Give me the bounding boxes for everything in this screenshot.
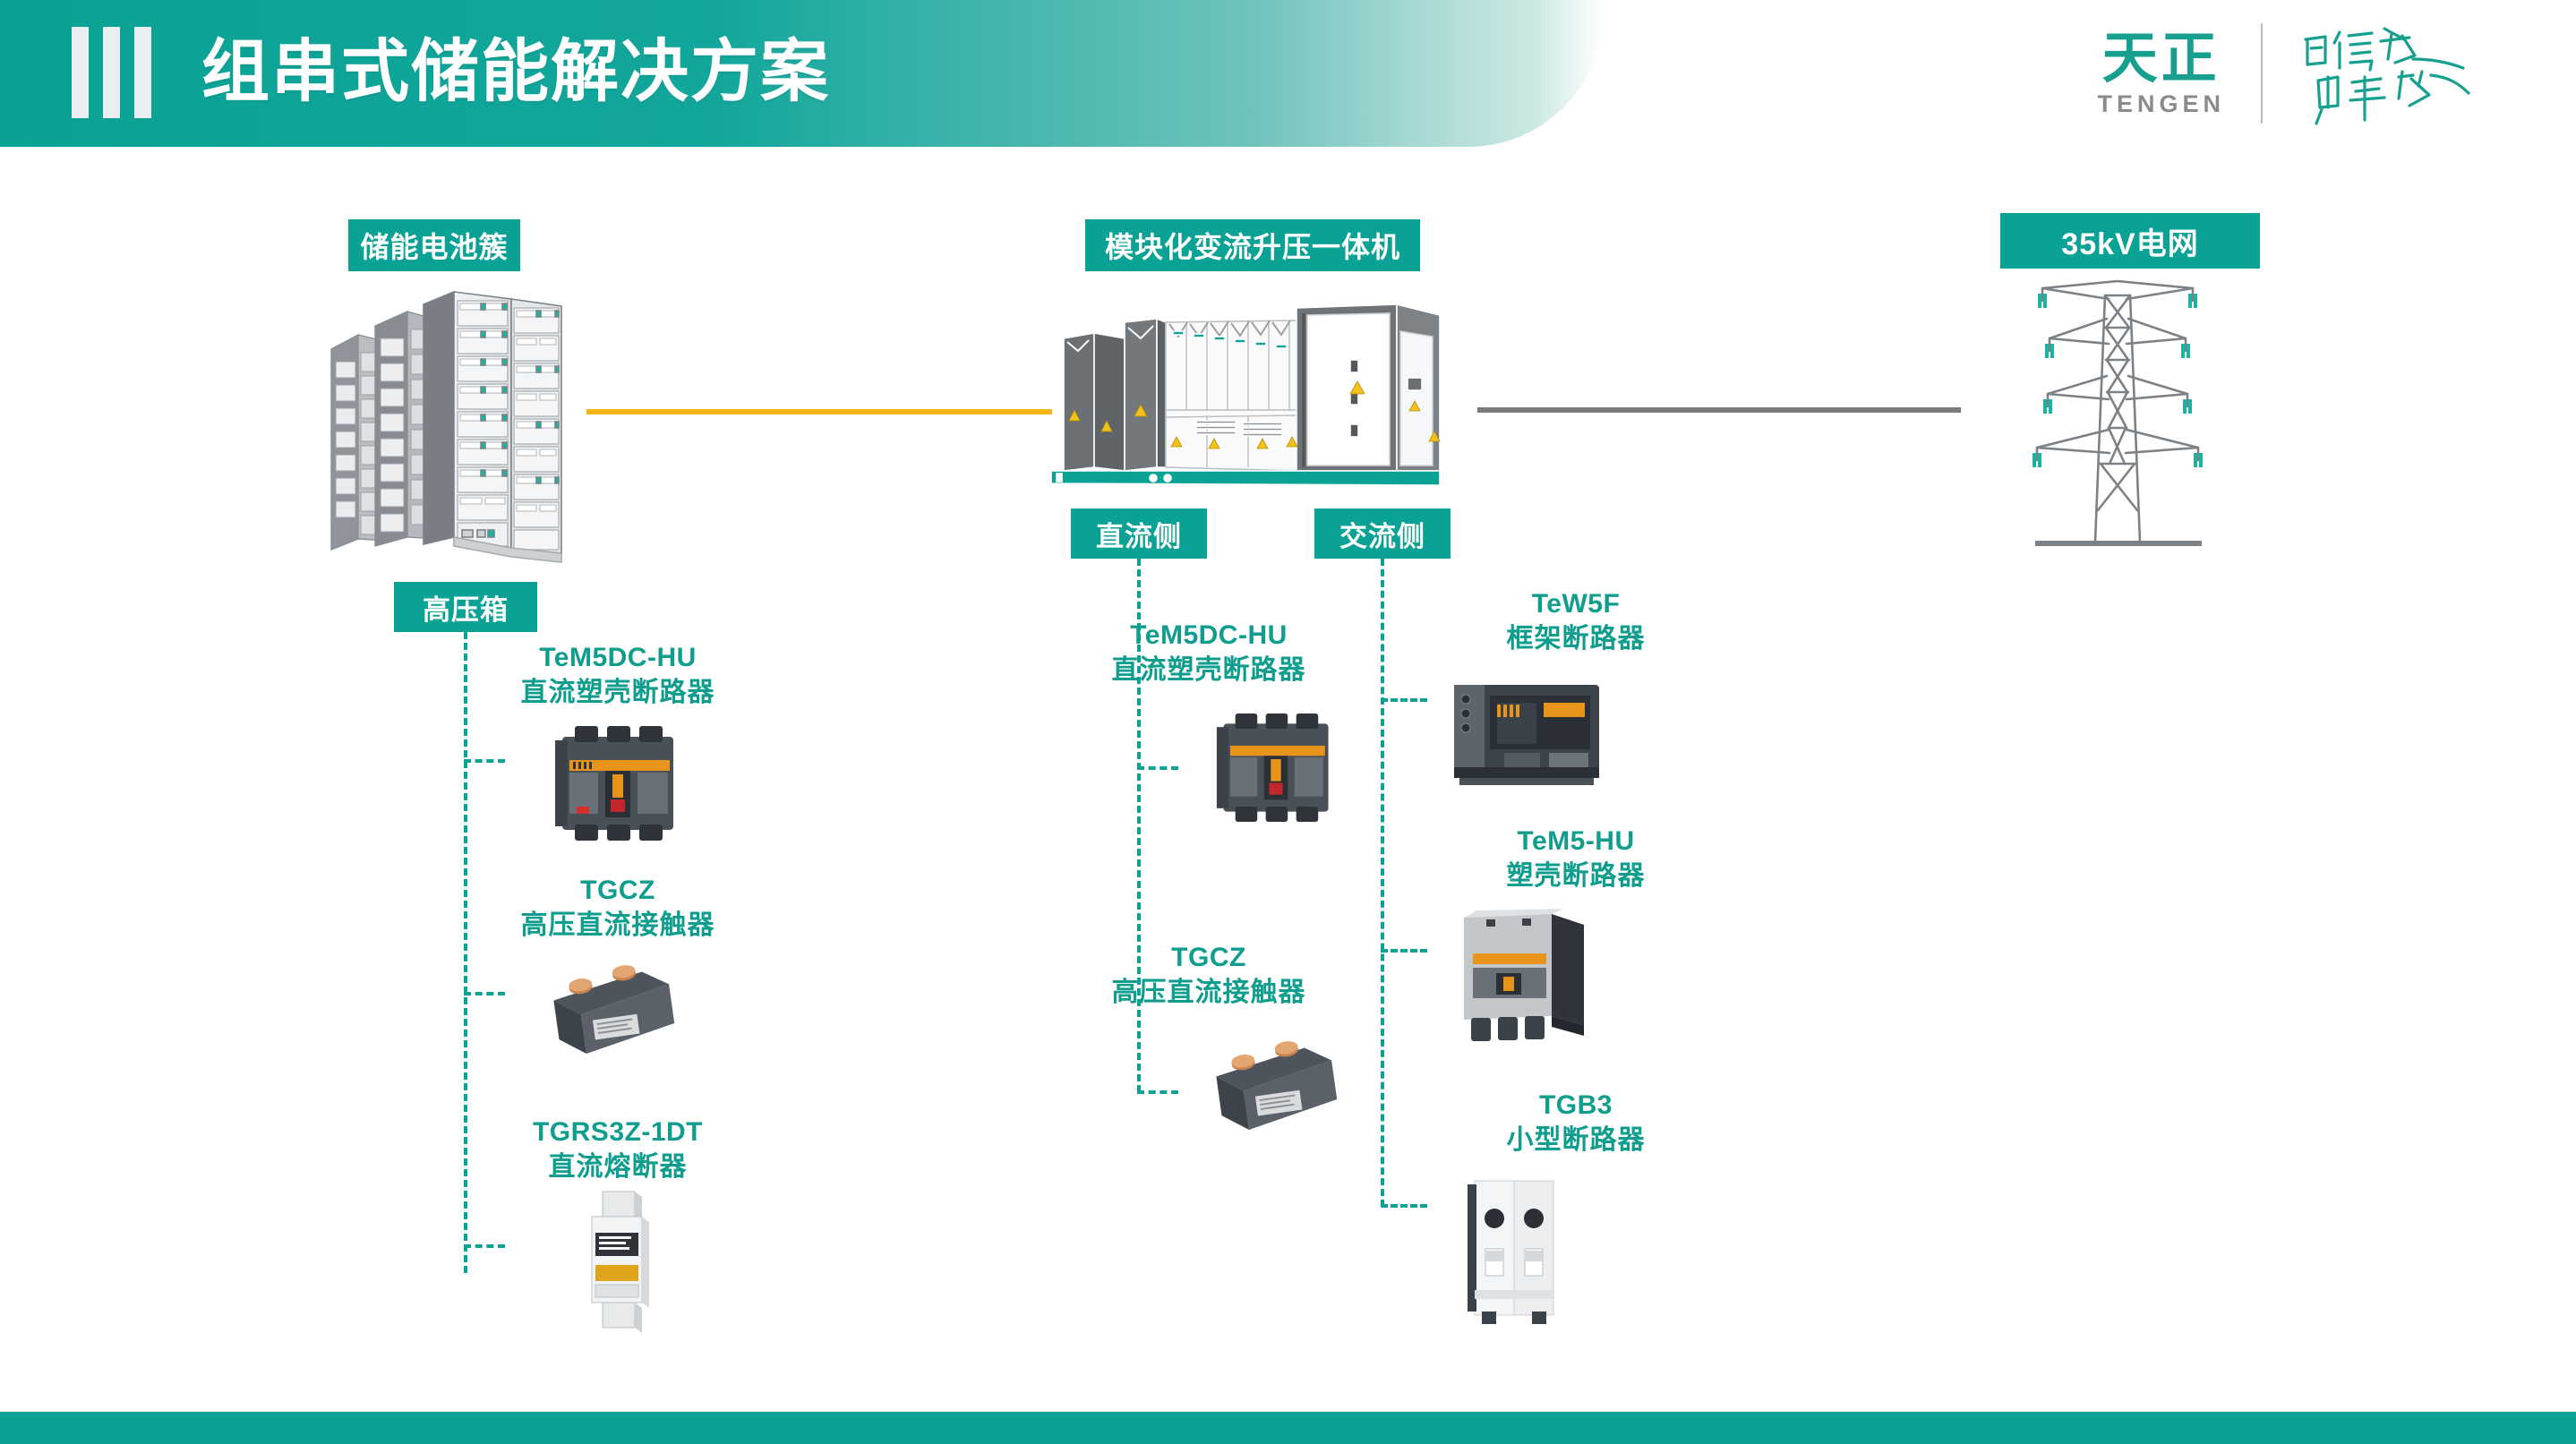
ac-bus-line xyxy=(1477,407,1961,413)
three-vertical-bars-icon xyxy=(72,27,151,118)
device-model: TGCZ xyxy=(1021,940,1397,975)
dc-side-branch-1 xyxy=(1137,766,1178,770)
hv-box-branch-1 xyxy=(464,759,505,763)
ac-side-branch-1 xyxy=(1381,698,1427,702)
hv-box-branch-3 xyxy=(464,1244,505,1248)
section-label-ac-side: 交流侧 xyxy=(1314,508,1451,559)
hv-box-branch-2 xyxy=(464,992,505,995)
brand-slogan-handwriting-icon xyxy=(2298,20,2478,127)
device-image-dc-fuse xyxy=(560,1186,676,1338)
battery-rack-illustration xyxy=(318,279,586,584)
device-model: TGRS3Z-1DT xyxy=(484,1115,752,1149)
device-model: TGCZ xyxy=(484,873,752,908)
device-name: 框架断路器 xyxy=(1397,621,1755,656)
device-caption-dc-1: TeM5DC-HU 直流塑壳断路器 xyxy=(1021,618,1397,688)
device-name: 小型断路器 xyxy=(1397,1123,1755,1158)
dc-bus-line xyxy=(586,409,1052,414)
device-image-mccb-dc-1 xyxy=(537,721,698,846)
device-name: 高压直流接触器 xyxy=(1021,975,1397,1010)
ac-side-branch-3 xyxy=(1381,1204,1427,1208)
device-image-contactor-2 xyxy=(1191,1021,1352,1146)
brand-logo: 天正 TENGEN xyxy=(2097,20,2478,127)
pcs-container-illustration xyxy=(1039,295,1442,492)
device-name: 高压直流接触器 xyxy=(484,908,752,943)
device-model: TeM5DC-HU xyxy=(484,640,752,675)
hv-box-trunk-line xyxy=(464,632,467,1273)
section-label-battery: 储能电池簇 xyxy=(348,219,520,271)
device-model: TeM5-HU xyxy=(1397,824,1755,859)
device-caption-ac-3: TGB3 小型断路器 xyxy=(1397,1088,1755,1158)
device-model: TeW5F xyxy=(1397,586,1755,621)
footer-bar xyxy=(0,1412,2576,1444)
page-title: 组串式储能解决方案 xyxy=(201,22,830,123)
transmission-tower-illustration xyxy=(2010,269,2225,555)
device-name: 直流塑壳断路器 xyxy=(1021,653,1397,688)
device-name: 塑壳断路器 xyxy=(1397,859,1755,893)
device-model: TeM5DC-HU xyxy=(1021,618,1397,653)
device-caption-ac-1: TeW5F 框架断路器 xyxy=(1397,586,1755,656)
device-caption-hvbox-1: TeM5DC-HU 直流塑壳断路器 xyxy=(484,640,752,710)
section-label-hv-box: 高压箱 xyxy=(394,582,537,632)
dc-side-branch-2 xyxy=(1137,1090,1178,1094)
device-image-mccb-ac xyxy=(1437,900,1594,1052)
device-caption-dc-2: TGCZ 高压直流接触器 xyxy=(1021,940,1397,1010)
device-name: 直流塑壳断路器 xyxy=(484,675,752,710)
section-label-pcs: 模块化变流升压一体机 xyxy=(1085,219,1420,271)
tengen-logo-mark: 天正 TENGEN xyxy=(2097,30,2225,117)
section-label-dc-side: 直流侧 xyxy=(1071,508,1207,559)
logo-chinese-name: 天正 xyxy=(2102,30,2221,89)
device-image-mcb xyxy=(1455,1168,1571,1329)
device-image-mccb-dc-2 xyxy=(1200,707,1352,828)
device-name: 直流熔断器 xyxy=(484,1149,752,1184)
device-caption-hvbox-2: TGCZ 高压直流接触器 xyxy=(484,873,752,943)
footer-corner-mask xyxy=(2155,1143,2576,1412)
device-image-contactor-1 xyxy=(528,944,689,1070)
section-label-grid: 35kV电网 xyxy=(2000,213,2260,269)
device-model: TGB3 xyxy=(1397,1088,1755,1123)
logo-english-name: TENGEN xyxy=(2097,90,2225,117)
device-image-acb xyxy=(1442,667,1612,792)
device-caption-ac-2: TeM5-HU 塑壳断路器 xyxy=(1397,824,1755,893)
page-header: 组串式储能解决方案 xyxy=(0,0,1603,147)
logo-divider xyxy=(2261,23,2263,124)
device-caption-hvbox-3: TGRS3Z-1DT 直流熔断器 xyxy=(484,1115,752,1184)
